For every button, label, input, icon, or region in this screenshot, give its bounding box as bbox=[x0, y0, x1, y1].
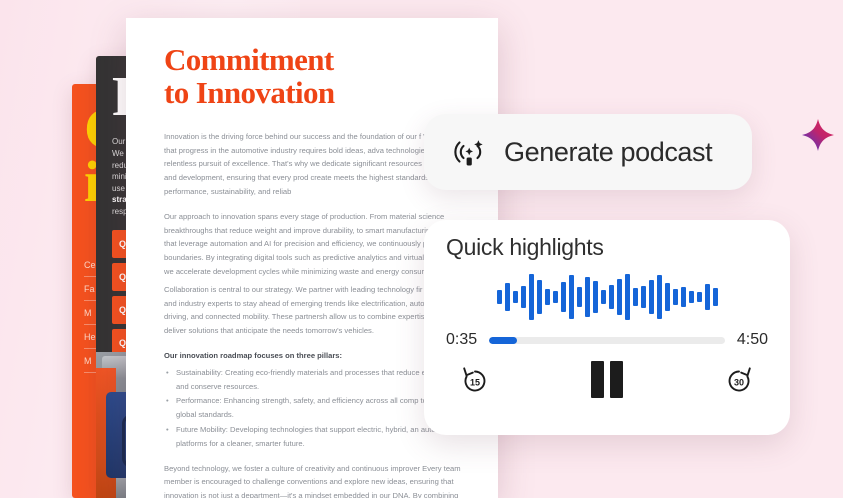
sparkle-icon bbox=[801, 118, 835, 154]
waveform-bar bbox=[657, 275, 662, 319]
pause-bar-right bbox=[610, 361, 623, 398]
progress-fill bbox=[489, 337, 517, 344]
list-item: Performance: Enhancing strength, safety,… bbox=[164, 394, 468, 422]
generate-podcast-icon bbox=[452, 135, 486, 169]
waveform-bar bbox=[681, 287, 686, 307]
list-item: Sustainability: Creating eco-friendly ma… bbox=[164, 366, 468, 394]
waveform-bar bbox=[617, 279, 622, 315]
waveform-bar bbox=[593, 281, 598, 313]
page-title: Commitment to Innovation bbox=[164, 44, 468, 110]
waveform-bar bbox=[537, 280, 542, 314]
waveform-bar bbox=[601, 290, 606, 304]
pause-button[interactable] bbox=[591, 361, 623, 398]
progress-slider[interactable] bbox=[489, 337, 725, 344]
waveform-bar bbox=[641, 286, 646, 308]
waveform-bar bbox=[497, 290, 502, 304]
audio-waveform[interactable] bbox=[446, 269, 768, 325]
document-paragraph: Collaboration is central to our strategy… bbox=[164, 283, 468, 338]
rewind-amount-label: 15 bbox=[470, 377, 480, 387]
waveform-bar bbox=[505, 283, 510, 311]
audio-player-card: Quick highlights 0:35 4:50 15 bbox=[424, 220, 790, 435]
waveform-bar bbox=[561, 282, 566, 312]
progress-row: 0:35 4:50 bbox=[446, 331, 768, 349]
pause-bar-left bbox=[591, 361, 604, 398]
transport-controls: 15 30 bbox=[446, 359, 768, 398]
screenshot-root: C i Ce Fa M He M P Our mi We em reducir … bbox=[0, 0, 843, 498]
generate-podcast-button[interactable]: Generate podcast bbox=[424, 114, 752, 190]
document-paragraph: Our approach to innovation spans every s… bbox=[164, 210, 468, 279]
generate-podcast-label: Generate podcast bbox=[504, 137, 712, 168]
waveform-bar bbox=[609, 285, 614, 309]
waveform-bar bbox=[625, 274, 630, 320]
waveform-bar bbox=[649, 280, 654, 314]
waveform-bar bbox=[529, 274, 534, 320]
waveform-bar bbox=[713, 288, 718, 306]
player-title: Quick highlights bbox=[446, 234, 768, 261]
forward-amount-label: 30 bbox=[734, 377, 744, 387]
current-time-label: 0:35 bbox=[446, 331, 477, 349]
waveform-bar bbox=[513, 291, 518, 303]
document-paragraph: Beyond technology, we foster a culture o… bbox=[164, 462, 468, 498]
waveform-bar bbox=[577, 287, 582, 307]
waveform-bar bbox=[585, 277, 590, 317]
waveform-bar bbox=[665, 283, 670, 311]
waveform-bar bbox=[545, 289, 550, 305]
waveform-bar bbox=[697, 292, 702, 302]
forward-30-button[interactable]: 30 bbox=[724, 365, 754, 395]
waveform-bar bbox=[689, 291, 694, 303]
rewind-15-button[interactable]: 15 bbox=[460, 365, 490, 395]
roadmap-heading: Our innovation roadmap focuses on three … bbox=[164, 349, 468, 363]
waveform-bar bbox=[705, 284, 710, 310]
list-item: Future Mobility: Developing technologies… bbox=[164, 423, 468, 451]
document-paragraph: Innovation is the driving force behind o… bbox=[164, 130, 468, 199]
waveform-bar bbox=[633, 288, 638, 306]
waveform-bar bbox=[569, 275, 574, 319]
waveform-bar bbox=[521, 286, 526, 308]
pillar-list: Sustainability: Creating eco-friendly ma… bbox=[164, 366, 468, 451]
waveform-bar bbox=[673, 289, 678, 305]
waveform-bar bbox=[553, 291, 558, 303]
total-time-label: 4:50 bbox=[737, 331, 768, 349]
